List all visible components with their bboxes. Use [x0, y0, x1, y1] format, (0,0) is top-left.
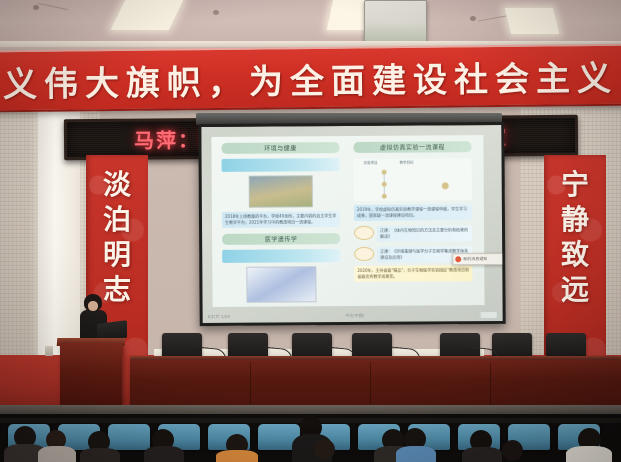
calligraphy-char: 远	[561, 276, 589, 304]
ceiling-rod	[38, 3, 68, 10]
banner-text: 义伟大旗帜，为全面建设社会主义	[3, 50, 618, 105]
ceiling-light-icon	[111, 0, 184, 30]
calligraphy-char: 致	[561, 241, 589, 269]
slide-image-chart	[246, 266, 316, 302]
notification-dot-icon	[455, 256, 461, 262]
notification-popup[interactable]: 新的消息通知	[452, 253, 505, 265]
stage-front-rail	[0, 405, 621, 414]
slide-left-column: 环境与健康 2018年上线教量的平台，学校40余所，主要内容的自主学生学生教学平…	[221, 142, 340, 303]
presidium-table	[130, 360, 621, 410]
diagram-label: 教学目标	[400, 161, 414, 166]
audience-person-body	[216, 450, 258, 462]
slide-accent-bar	[222, 158, 340, 172]
audience-person-body	[38, 446, 76, 462]
diagram-connector	[384, 187, 385, 194]
diagram-label: 实验项目	[364, 161, 378, 166]
slide-diagram: 实验项目 教学目标	[354, 158, 472, 201]
slide-body-text: 2018年上线教量的平台，学校40余所，主要内容的自主学生学生教学平台；2021…	[222, 211, 340, 228]
ceiling-fixture-icon	[213, 10, 219, 15]
slide-note-text: 2020年，主持省级"精品"，分子生物医学实验园区"教改项目和省级优秀教学成果奖…	[354, 265, 472, 282]
slide-counter: 幻灯片 1/24	[208, 313, 230, 319]
ceiling	[0, 0, 621, 47]
slide-heading-virtual-sim: 虚拟仿真实验一流课程	[353, 141, 471, 153]
audience-person	[502, 440, 523, 461]
speaker-face	[88, 301, 98, 311]
presentation-slide: 环境与健康 2018年上线教量的平台，学校40余所，主要内容的自主学生学生教学平…	[211, 135, 484, 307]
diagram-node	[442, 182, 449, 189]
table-seam	[490, 362, 491, 410]
ceiling-rod	[478, 16, 506, 22]
audience-person-body	[144, 446, 184, 462]
notification-text: 新的消息通知	[463, 256, 487, 262]
audience-person-body	[80, 448, 120, 462]
ceiling-projector-icon	[364, 0, 427, 42]
calligraphy-left-chars: 淡 泊 明 志	[86, 171, 148, 304]
view-mode-button[interactable]	[480, 310, 498, 318]
audience-person-body	[396, 446, 436, 462]
diagram-node	[382, 194, 387, 199]
calligraphy-char: 静	[561, 206, 589, 234]
audience-person-body	[566, 446, 612, 462]
slide-body-text: 2019年，学校虚拟仿真实验教学课程一流课程申报，学生学习成果，国家级一流课程建…	[354, 204, 472, 221]
calligraphy-right-chars: 宁 静 致 远	[544, 171, 606, 304]
award-badge-icon	[354, 226, 374, 240]
podium	[60, 343, 122, 405]
ceiling-fixture-icon	[470, 16, 476, 21]
calligraphy-char: 泊	[103, 206, 131, 234]
table-seam	[370, 362, 371, 410]
powerpoint-status-bar: 幻灯片 1/24 中文(中国)	[208, 311, 498, 320]
slide-accent-bar	[222, 249, 340, 263]
calligraphy-char: 宁	[561, 171, 589, 199]
slide-badge-row: 正建：《体内生物知识的方法及主要分析和结果的解读》	[354, 225, 472, 242]
language-indicator: 中文(中国)	[345, 312, 364, 318]
slide-heading-environment: 环境与健康	[221, 142, 339, 154]
slide-image-landscape	[249, 175, 313, 207]
ceiling-light-icon	[505, 8, 559, 34]
calligraphy-char: 淡	[103, 171, 131, 199]
slide-heading-genetics: 医学遗传学	[222, 233, 340, 245]
lecture-hall-photo: 义伟大旗帜，为全面建设社会主义 马萍：聚焦一流课程，建设名师工作室 淡 泊 明 …	[0, 0, 621, 462]
top-red-banner: 义伟大旗帜，为全面建设社会主义	[0, 44, 621, 113]
water-cup-icon	[45, 346, 53, 356]
slide-badge-text: 正建：《体内生物知识的方法及主要分析和结果的解读》	[377, 225, 472, 242]
audience-person-body	[462, 447, 502, 462]
diagram-connector	[384, 175, 385, 182]
ceiling-fixture-icon	[33, 5, 39, 10]
auditorium-seat	[108, 424, 150, 450]
award-badge-icon	[354, 247, 374, 261]
table-seam	[250, 362, 251, 410]
calligraphy-char: 志	[103, 276, 131, 304]
projection-screen: 环境与健康 2018年上线教量的平台，学校40余所，主要内容的自主学生学生教学平…	[198, 122, 505, 326]
audience-person	[314, 439, 335, 460]
calligraphy-char: 明	[103, 241, 131, 269]
